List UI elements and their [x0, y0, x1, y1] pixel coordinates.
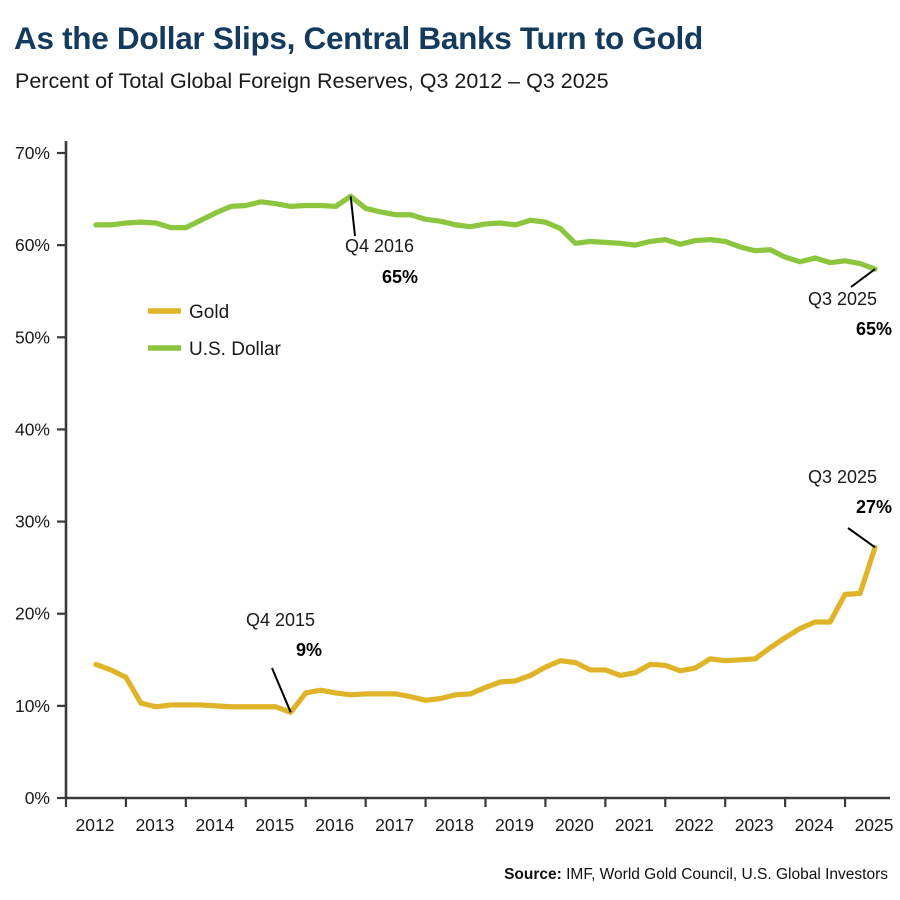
x-axis-label: 2015 [255, 815, 294, 835]
x-axis-label: 2017 [375, 815, 414, 835]
x-axis-label: 2019 [495, 815, 534, 835]
annotation-date-gold-low: Q4 2015 [246, 610, 315, 630]
y-axis-label: 70% [15, 143, 50, 163]
annotation-date-dollar-peak: Q4 2016 [345, 236, 414, 256]
chart-page: As the Dollar Slips, Central Banks Turn … [0, 0, 900, 900]
legend-label-gold: Gold [189, 302, 229, 323]
x-axis-label: 2025 [855, 815, 894, 835]
y-axis-label: 50% [15, 327, 50, 347]
y-axis-label: 20% [15, 604, 50, 624]
source-text: IMF, World Gold Council, U.S. Global Inv… [562, 866, 888, 883]
annotation-value-dollar-peak: 65% [382, 267, 418, 287]
series-line-u-s-dollar [96, 196, 875, 269]
x-axis-label: 2020 [555, 815, 594, 835]
x-axis-label: 2024 [795, 815, 834, 835]
y-axis-label: 10% [15, 696, 50, 716]
x-axis-label: 2018 [435, 815, 474, 835]
annotation-value-gold-low: 9% [296, 640, 322, 660]
x-axis-label: 2016 [315, 815, 354, 835]
annotation-leader-dollar-end [851, 269, 875, 287]
source-label: Source: [504, 866, 562, 883]
series-line-gold [96, 547, 875, 712]
y-axis-label: 0% [25, 788, 50, 808]
annotation-leader-gold-end [848, 528, 875, 547]
annotation-date-gold-end: Q3 2025 [808, 467, 877, 487]
x-axis-label: 2014 [195, 815, 234, 835]
x-axis-label: 2012 [76, 815, 115, 835]
y-axis-label: 60% [15, 235, 50, 255]
x-axis-label: 2023 [735, 815, 774, 835]
line-chart: 0%10%20%30%40%50%60%70%20122013201420152… [0, 0, 900, 860]
annotation-date-dollar-end: Q3 2025 [808, 289, 877, 309]
legend-label-dollar: U.S. Dollar [189, 339, 282, 360]
x-axis-label: 2021 [615, 815, 654, 835]
x-axis-label: 2022 [675, 815, 714, 835]
annotation-value-gold-end: 27% [856, 497, 892, 517]
y-axis-label: 40% [15, 419, 50, 439]
y-axis-label: 30% [15, 512, 50, 532]
x-axis-label: 2013 [135, 815, 174, 835]
annotation-value-dollar-end: 65% [856, 319, 892, 339]
source-note: Source: IMF, World Gold Council, U.S. Gl… [504, 866, 888, 884]
